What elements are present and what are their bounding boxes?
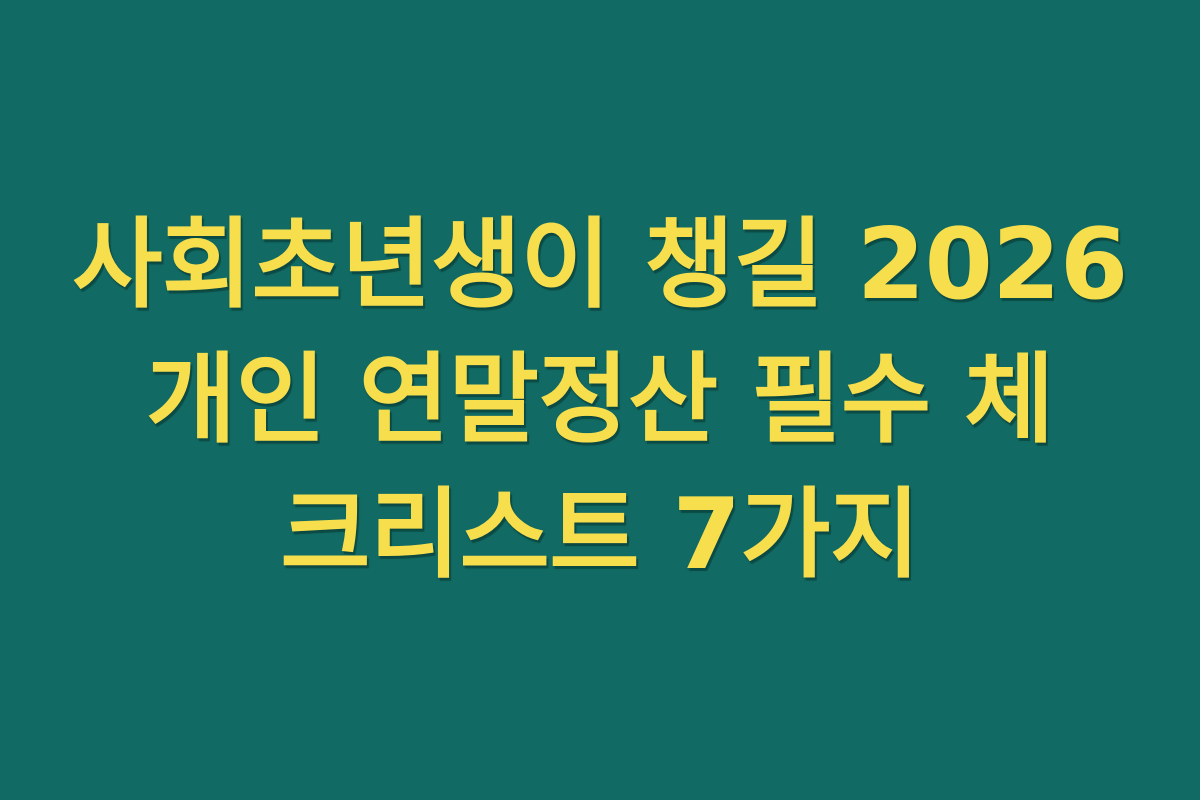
page-title: 사회초년생이 챙길 2026 개인 연말정산 필수 체 크리스트 7가지 xyxy=(50,198,1150,603)
thumbnail-canvas: 사회초년생이 챙길 2026 개인 연말정산 필수 체 크리스트 7가지 xyxy=(0,0,1200,800)
title-line-1: 사회초년생이 챙길 2026 xyxy=(50,198,1150,333)
title-line-2: 개인 연말정산 필수 체 xyxy=(50,333,1150,468)
title-line-3: 크리스트 7가지 xyxy=(50,468,1150,603)
